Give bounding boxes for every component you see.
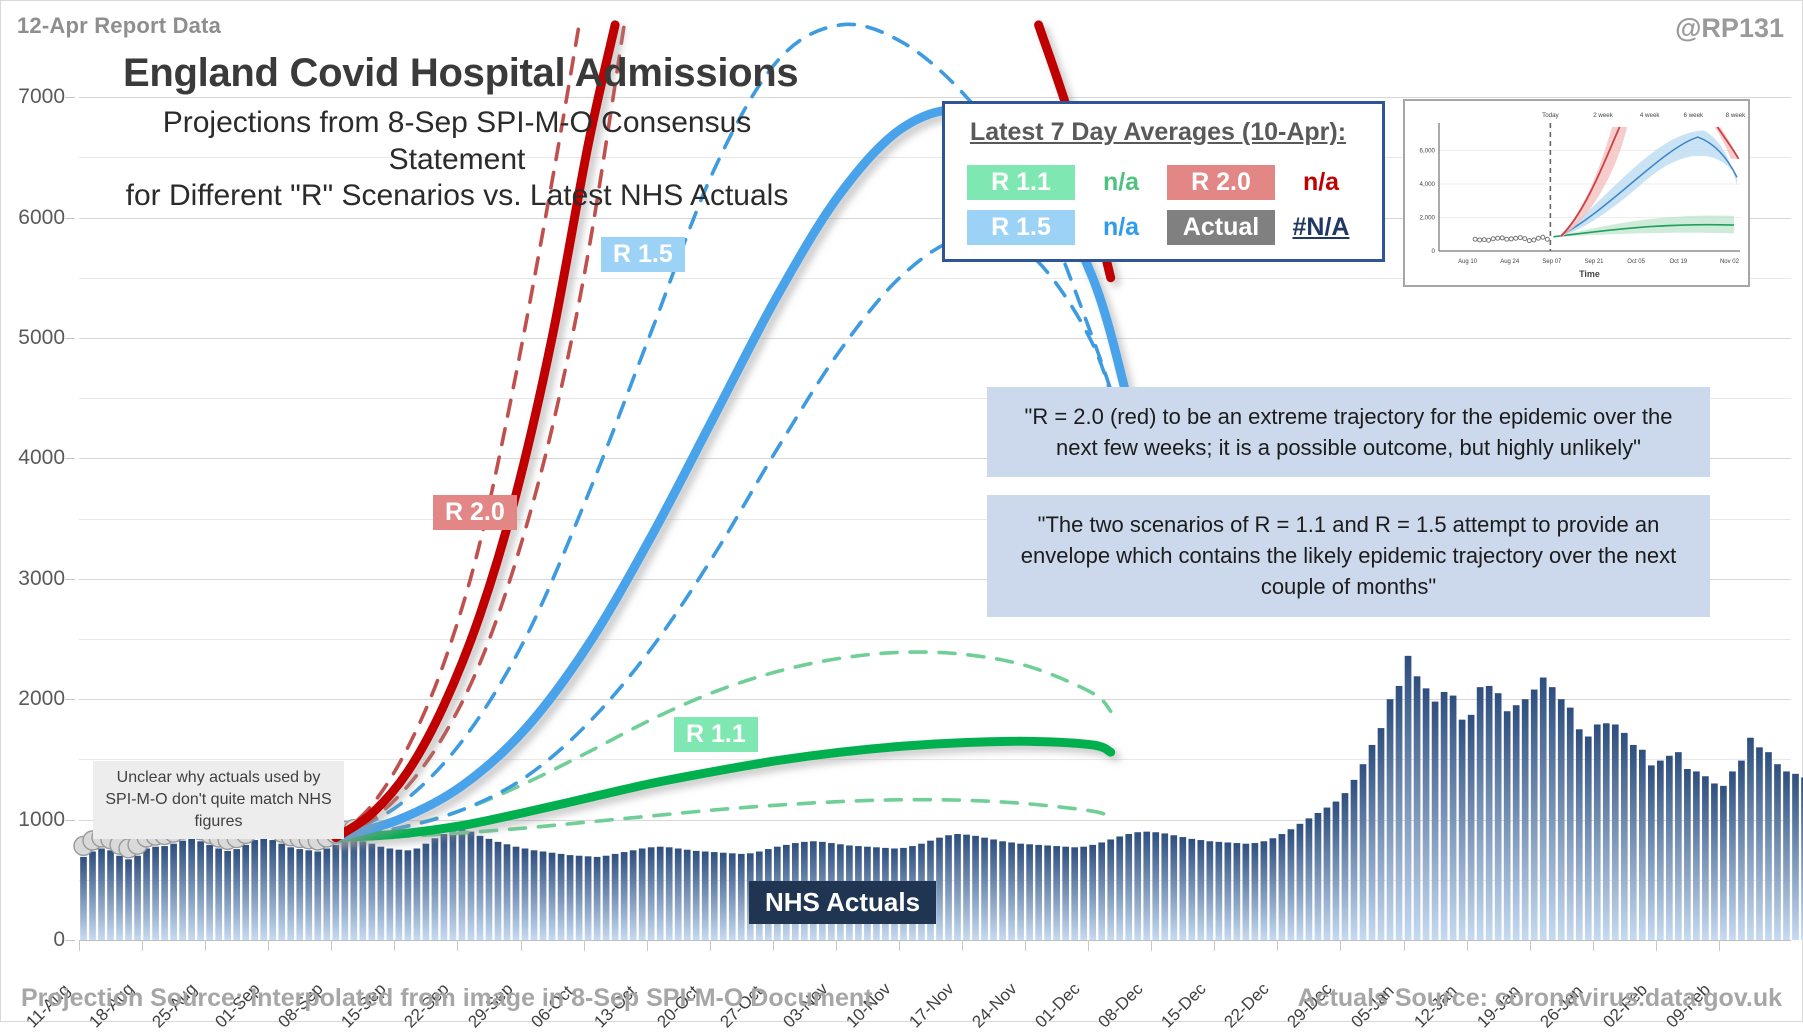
inset-y-tick-label: 2,000: [1420, 214, 1436, 221]
x-axis-tick: [1088, 940, 1089, 951]
actuals-bar: [1387, 699, 1394, 940]
actuals-bar: [269, 840, 276, 940]
curve-label-r11: R 1.1: [674, 717, 758, 752]
actuals-bar: [1252, 843, 1259, 940]
y-axis-tick: [65, 579, 75, 580]
y-axis-tick-label: 7000: [18, 85, 65, 109]
actuals-bar: [1324, 808, 1331, 940]
actuals-bar: [1315, 813, 1322, 940]
actuals-bar: [1116, 836, 1123, 940]
actuals-bar: [1495, 693, 1502, 940]
actuals-bar: [1216, 842, 1223, 940]
y-axis-tick-label: 4000: [18, 446, 65, 470]
inset-y-tick-label: 0: [1432, 248, 1436, 255]
actuals-bar: [152, 847, 159, 940]
actuals-bar: [1360, 764, 1367, 940]
actuals-bar: [999, 841, 1006, 940]
x-axis-tick: [1151, 940, 1152, 951]
actuals-bar: [1297, 824, 1304, 940]
actuals-bar: [639, 848, 646, 940]
actuals-bar: [1720, 786, 1727, 940]
actuals-bar: [1783, 771, 1790, 940]
actuals-bar: [143, 848, 150, 940]
actuals-bar: [450, 830, 457, 940]
actuals-bar: [197, 841, 204, 940]
legend-box: Latest 7 Day Averages (10-Apr): R 1.1 n/…: [942, 101, 1385, 262]
quote-box-envelope: "The two scenarios of R = 1.1 and R = 1.…: [987, 495, 1710, 617]
actuals-bar: [1504, 711, 1511, 940]
actuals-bar: [513, 847, 520, 940]
actuals-bar: [1405, 656, 1412, 940]
actuals-bar: [1621, 733, 1628, 940]
y-axis-tick: [65, 820, 75, 821]
y-axis-tick-label: 3000: [18, 567, 65, 591]
actuals-bar: [441, 834, 448, 940]
inset-top-label: 8 week: [1726, 112, 1747, 119]
actuals-bar: [1549, 687, 1556, 940]
actuals-bar: [612, 854, 619, 940]
actuals-bar: [1594, 724, 1601, 940]
actuals-bar: [1774, 764, 1781, 940]
y-axis-tick: [65, 699, 75, 700]
inset-svg: Today2 week4 week6 week8 week02,0004,000…: [1405, 101, 1748, 285]
actuals-bar: [305, 850, 312, 940]
actuals-bar: [1044, 845, 1051, 940]
legend-row: R 1.5 n/a Actual #N/A: [967, 205, 1367, 250]
actuals-bar: [1161, 833, 1168, 940]
actuals-bar: [1792, 774, 1799, 940]
actuals-bar: [1738, 761, 1745, 940]
actuals-bar: [188, 839, 195, 940]
y-axis-tick-label: 2000: [18, 687, 65, 711]
actuals-bar: [1134, 832, 1141, 940]
actuals-bar: [1459, 720, 1466, 940]
actuals-bar: [1080, 847, 1087, 940]
x-axis-tick-label: 01-Dec: [1032, 979, 1085, 1032]
actuals-bar: [1206, 841, 1213, 940]
y-axis-tick: [65, 338, 75, 339]
actuals-bar: [1603, 723, 1610, 940]
actuals-bar: [405, 850, 412, 940]
actuals-bar: [233, 849, 240, 940]
actuals-bar: [206, 845, 213, 940]
x-axis-tick-label: 08-Dec: [1095, 979, 1148, 1032]
actuals-bar: [1639, 750, 1646, 940]
actuals-bar: [1648, 765, 1655, 940]
actuals-bar: [1333, 802, 1340, 940]
x-axis-tick-label: 24-Nov: [969, 979, 1022, 1032]
subtitle-line-2: for Different "R" Scenarios vs. Latest N…: [97, 178, 817, 215]
actuals-bar: [1585, 737, 1592, 940]
actuals-bar: [729, 853, 736, 940]
actuals-bar: [1540, 678, 1547, 940]
legend-value-r15: n/a: [1075, 213, 1167, 242]
actuals-bar: [116, 856, 123, 940]
actuals-bar: [314, 852, 321, 941]
y-axis-tick: [65, 218, 75, 219]
inset-x-tick-label: Sep 07: [1542, 259, 1562, 265]
y-axis: 01000200030004000500060007000: [1, 49, 73, 940]
x-axis-tick: [521, 940, 522, 951]
actuals-bar: [1125, 834, 1132, 940]
x-axis-tick: [1214, 940, 1215, 951]
actuals-bar: [1558, 699, 1565, 940]
actuals-bar: [738, 854, 745, 940]
actuals-bar: [387, 848, 394, 940]
inset-x-tick-label: Aug 24: [1500, 259, 1520, 265]
actuals-bar: [1098, 842, 1105, 940]
actuals-bar: [468, 832, 475, 940]
actuals-bar: [495, 842, 502, 940]
subtitle-line-1: Projections from 8-Sep SPI-M-O Consensus…: [97, 105, 817, 178]
actuals-bar: [1035, 845, 1042, 940]
inset-top-label: 4 week: [1640, 112, 1661, 119]
x-axis-tick: [1593, 940, 1594, 951]
actuals-bar: [963, 835, 970, 940]
x-axis-tick: [205, 940, 206, 951]
actuals-bar: [675, 848, 682, 940]
actuals-bar: [414, 848, 421, 940]
actuals-bar: [459, 828, 466, 940]
x-axis-tick: [79, 940, 80, 951]
x-axis-tick: [1025, 940, 1026, 951]
y-axis-tick-label: 1000: [18, 808, 65, 832]
actuals-bar: [1522, 699, 1529, 940]
actuals-bar: [1008, 842, 1015, 940]
actuals-bar: [945, 835, 952, 940]
actuals-bar: [1612, 724, 1619, 940]
actuals-bar: [936, 838, 943, 940]
x-axis-tick: [836, 940, 837, 951]
actuals-bar: [567, 855, 574, 940]
actuals-bar: [657, 847, 664, 940]
actuals-bar: [585, 856, 592, 940]
legend-value-actual: #N/A: [1275, 213, 1367, 242]
actuals-bar: [1423, 688, 1430, 940]
actuals-bar: [1567, 708, 1574, 940]
actuals-bar: [1306, 818, 1313, 940]
actuals-bar: [1450, 696, 1457, 940]
x-axis-tick: [899, 940, 900, 951]
actuals-bar: [972, 836, 979, 940]
actuals-bar: [531, 850, 538, 940]
actuals-bar: [1432, 702, 1439, 940]
footer-projection-source: Projection Source: Interpolated from ima…: [21, 984, 873, 1013]
legend-value-r20: n/a: [1275, 168, 1367, 197]
actuals-bar: [1188, 839, 1195, 940]
inset-top-label: 6 week: [1684, 112, 1705, 119]
actuals-bar: [215, 848, 222, 940]
actuals-bar: [702, 852, 709, 941]
actuals-bar: [1017, 844, 1024, 940]
actuals-bar: [80, 857, 87, 940]
inset-x-tick-label: Aug 10: [1458, 259, 1478, 265]
actuals-bar: [242, 845, 249, 940]
x-axis-tick: [1719, 940, 1720, 951]
actuals-bar: [1630, 745, 1637, 940]
actuals-bar: [332, 845, 339, 940]
actuals-bar: [1152, 832, 1159, 940]
x-axis-tick: [268, 940, 269, 951]
x-axis-tick: [394, 940, 395, 951]
curve-label-r15: R 1.5: [601, 237, 685, 272]
actuals-bar: [1693, 771, 1700, 940]
actuals-bar: [603, 856, 610, 940]
x-axis-tick: [1530, 940, 1531, 951]
actuals-bar: [1657, 761, 1664, 940]
actuals-bar: [1342, 793, 1349, 940]
curve-label-nhs-actuals: NHS Actuals: [749, 881, 936, 924]
actuals-bar: [1468, 715, 1475, 940]
x-axis-tick: [331, 940, 332, 951]
projection-curve: [336, 800, 1111, 838]
legend-chip-r15: R 1.5: [967, 210, 1075, 245]
actuals-bar: [287, 847, 294, 940]
actuals-bar: [296, 849, 303, 940]
actuals-bar: [1765, 752, 1772, 940]
actuals-bar: [504, 844, 511, 940]
inset-top-label: 2 week: [1593, 112, 1614, 119]
actuals-bar: [1062, 847, 1069, 940]
actuals-bar: [1143, 832, 1150, 940]
actuals-bar: [323, 848, 330, 940]
actuals-bar: [594, 857, 601, 940]
inset-x-tick-label: Oct 05: [1627, 259, 1645, 265]
y-axis-tick: [65, 97, 75, 98]
actuals-bar: [1234, 843, 1241, 940]
x-axis-tick-label: 22-Dec: [1221, 979, 1274, 1032]
actuals-bar: [432, 838, 439, 940]
y-axis-tick-label: 5000: [18, 326, 65, 350]
actuals-bar: [350, 840, 357, 940]
quote-box-r20: "R = 2.0 (red) to be an extreme trajecto…: [987, 387, 1710, 477]
inset-x-tick-label: Sep 21: [1584, 259, 1604, 265]
footer-actuals-source: Actuals Source: coronavirus.data.gov.uk: [1298, 984, 1782, 1013]
actuals-bar: [1071, 847, 1078, 940]
actuals-bar: [666, 847, 673, 940]
actuals-bar: [423, 844, 430, 940]
legend-value-r11: n/a: [1075, 168, 1167, 197]
actuals-bar: [125, 859, 132, 940]
inset-x-tick-label: Nov 02: [1720, 259, 1740, 265]
x-axis-tick-label: 17-Nov: [905, 979, 958, 1032]
actuals-bar: [224, 851, 231, 940]
actuals-bar: [1243, 844, 1250, 940]
actuals-bar: [396, 850, 403, 940]
actuals-bar: [1053, 846, 1060, 940]
actuals-bar: [170, 844, 177, 940]
legend-row: R 1.1 n/a R 2.0 n/a: [967, 160, 1367, 205]
actuals-bar: [107, 850, 114, 940]
y-axis-tick-label: 6000: [18, 206, 65, 230]
actuals-bar: [1684, 769, 1691, 940]
x-axis-tick: [1340, 940, 1341, 951]
actuals-bar: [621, 852, 628, 940]
annotation-note: Unclear why actuals used by SPI-M-O don'…: [93, 761, 344, 839]
legend-title: Latest 7 Day Averages (10-Apr):: [970, 118, 1346, 147]
actuals-bar: [98, 848, 105, 940]
actuals-bar: [1261, 841, 1268, 940]
actuals-bar: [540, 852, 547, 941]
actuals-bar: [711, 852, 718, 940]
actuals-bar: [720, 853, 727, 940]
actuals-bar: [1513, 705, 1520, 940]
legend-chip-r20: R 2.0: [1167, 165, 1275, 200]
actuals-bar: [179, 841, 186, 940]
actuals-bar: [576, 856, 583, 940]
actuals-bar: [1288, 829, 1295, 940]
actuals-bar: [134, 856, 141, 940]
actuals-bar: [1170, 835, 1177, 940]
actuals-bar: [1531, 690, 1538, 940]
actuals-bar: [1351, 780, 1358, 940]
actuals-bar: [1197, 840, 1204, 940]
actuals-bar: [1369, 745, 1376, 940]
page-title: England Covid Hospital Admissions: [123, 51, 798, 96]
y-axis-tick-label: 0: [53, 928, 65, 952]
actuals-bar: [684, 850, 691, 940]
actuals-bar: [1441, 692, 1448, 940]
actuals-bar: [161, 846, 168, 940]
actuals-bar: [1477, 687, 1484, 940]
actuals-bar: [1486, 686, 1493, 940]
actuals-bar: [1378, 728, 1385, 940]
actuals-bar: [1414, 676, 1421, 940]
page-subtitle: Projections from 8-Sep SPI-M-O Consensus…: [97, 105, 817, 215]
x-axis-tick: [584, 940, 585, 951]
actuals-bar: [378, 847, 385, 940]
actuals-bar: [1711, 783, 1718, 940]
actuals-bar: [990, 839, 997, 940]
actuals-bar: [1747, 738, 1754, 940]
legend-chip-r11: R 1.1: [967, 165, 1075, 200]
x-axis-tick: [1467, 940, 1468, 951]
legend-grid: R 1.1 n/a R 2.0 n/a R 1.5 n/a Actual #N/…: [967, 160, 1367, 250]
inset-top-label: Today: [1542, 112, 1559, 119]
x-axis-tick: [647, 940, 648, 951]
actuals-bar: [981, 838, 988, 940]
source-chart-thumbnail: Today2 week4 week6 week8 week02,0004,000…: [1403, 99, 1750, 287]
actuals-bar: [1225, 842, 1232, 940]
actuals-bar: [558, 854, 565, 940]
actuals-bar: [549, 853, 556, 940]
actuals-bar: [1666, 756, 1673, 940]
watermark: @RP131: [1675, 13, 1784, 44]
report-tag: 12-Apr Report Data: [17, 13, 221, 39]
actuals-bar: [89, 852, 96, 941]
actuals-bar: [1396, 686, 1403, 940]
actuals-bar: [486, 839, 493, 940]
actuals-bar: [1270, 838, 1277, 940]
actuals-bar: [278, 844, 285, 940]
actuals-bar: [260, 838, 267, 940]
inset-x-axis-title: Time: [1579, 269, 1600, 279]
actuals-bar: [341, 842, 348, 940]
actuals-bar: [630, 850, 637, 940]
actuals-bar: [251, 840, 258, 940]
y-axis-tick: [65, 458, 75, 459]
curve-label-r20: R 2.0: [433, 495, 517, 530]
actuals-bar: [1026, 844, 1033, 940]
x-axis-tick: [142, 940, 143, 951]
x-axis-tick: [457, 940, 458, 951]
actuals-bar: [1107, 839, 1114, 940]
x-axis-ticks: [79, 940, 1791, 952]
actuals-bar: [369, 844, 376, 940]
actuals-bar: [1756, 747, 1763, 940]
actuals-bar: [1279, 834, 1286, 940]
x-axis-tick: [962, 940, 963, 951]
y-axis-tick: [65, 940, 75, 941]
inset-y-tick-label: 4,000: [1420, 181, 1436, 188]
actuals-bar: [360, 841, 367, 940]
x-axis-tick: [710, 940, 711, 951]
actuals-bar: [1702, 776, 1709, 940]
x-axis-tick-label: 15-Dec: [1158, 979, 1211, 1032]
actuals-bar: [954, 834, 961, 940]
actuals-bar: [1675, 752, 1682, 940]
actuals-bar: [522, 848, 529, 940]
actuals-bar: [1179, 837, 1186, 940]
legend-chip-actual: Actual: [1167, 210, 1275, 245]
actuals-bar: [648, 847, 655, 940]
actuals-bar: [477, 836, 484, 940]
x-axis-tick: [1277, 940, 1278, 951]
x-axis-tick: [1404, 940, 1405, 951]
inset-x-tick-label: Oct 19: [1669, 259, 1687, 265]
x-axis-tick: [1656, 940, 1657, 951]
inset-y-tick-label: 6,000: [1420, 147, 1436, 154]
x-axis-tick: [773, 940, 774, 951]
actuals-bar: [1729, 771, 1736, 940]
actuals-bar: [1089, 845, 1096, 940]
actuals-bar: [693, 851, 700, 940]
actuals-bar: [1576, 729, 1583, 940]
